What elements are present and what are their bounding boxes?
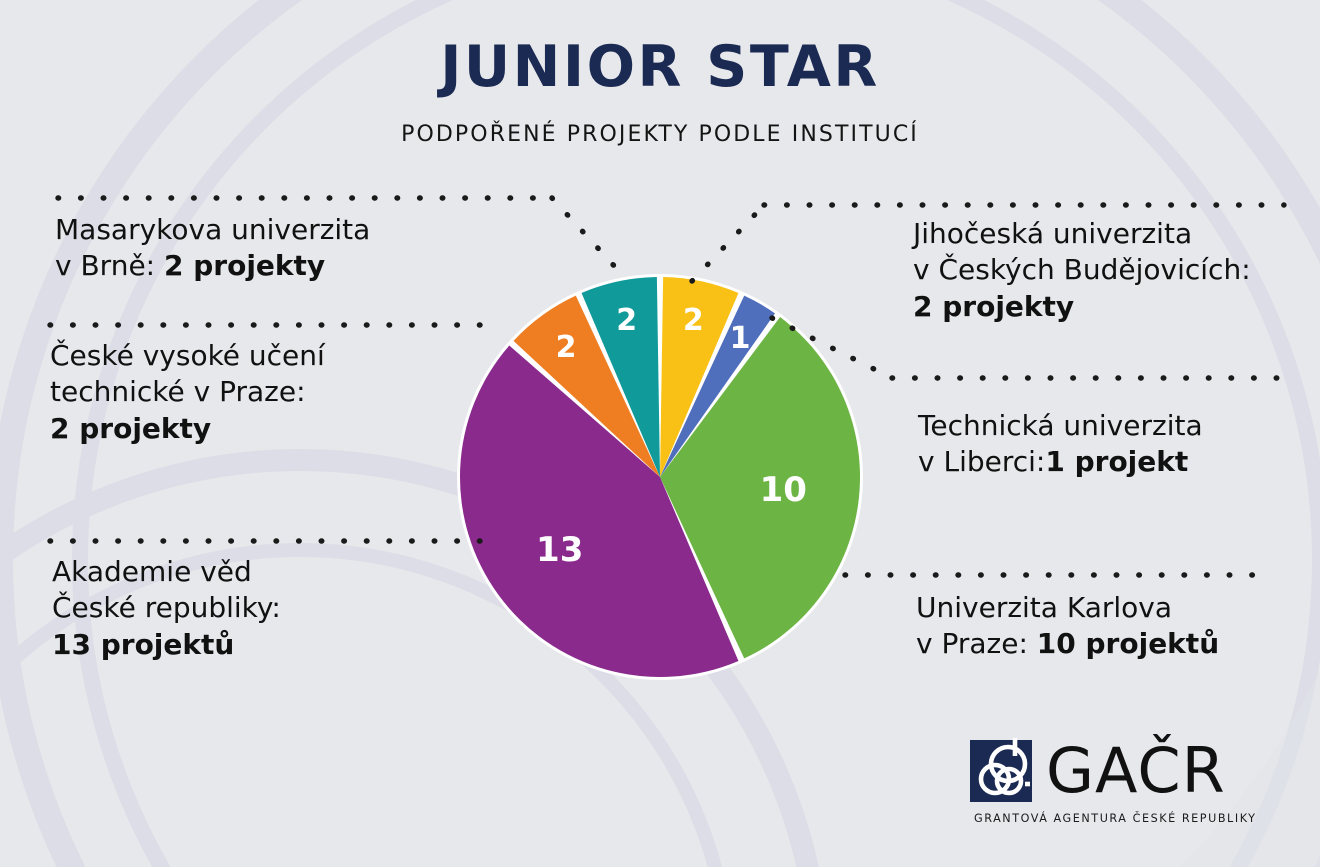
page-title: JUNIOR STAR — [0, 38, 1320, 98]
callout-avcr-line2: České republiky: — [52, 590, 281, 626]
gacr-wordmark: GAČR — [1046, 734, 1226, 807]
callout-tul-line1: Technická univerzita — [918, 408, 1203, 444]
leader-tul-slope — [772, 318, 892, 378]
callout-cvut-line1: České vysoké učení — [50, 338, 325, 374]
callout-cvut-value: 2 projekty — [50, 411, 325, 447]
leader-jcu-slope — [692, 205, 764, 281]
callout-masaryk-line1: Masarykova univerzita — [55, 212, 370, 248]
callout-jcu-line2: v Českých Budějovicích: — [913, 252, 1251, 288]
callout-cvut: České vysoké učení technické v Praze: 2 … — [50, 338, 325, 447]
callout-cvut-value-text: 2 projekty — [50, 412, 211, 445]
callout-masarykova-univerzita: Masarykova univerzita v Brně: 2 projekty — [55, 212, 370, 285]
callout-avcr-line1: Akademie věd — [52, 554, 281, 590]
callout-masaryk-line2-plain: v Brně: — [55, 249, 164, 282]
callout-univerzita-karlova: Univerzita Karlova v Praze: 10 projektů — [916, 590, 1219, 663]
callout-tul-line2: v Liberci:1 projekt — [918, 444, 1203, 480]
callout-uk-line2: v Praze: 10 projektů — [916, 626, 1219, 662]
callout-uk-value: 10 projektů — [1037, 627, 1219, 660]
callout-uk-line2-plain: v Praze: — [916, 627, 1037, 660]
callout-cvut-line2: technické v Praze: — [50, 374, 325, 410]
callout-jcu-line1: Jihočeská univerzita — [913, 216, 1251, 252]
page-subtitle: PODPOŘENÉ PROJEKTY PODLE INSTITUCÍ — [0, 122, 1320, 147]
callout-technicka-univerzita-liberec: Technická univerzita v Liberci:1 projekt — [918, 408, 1203, 481]
callout-avcr-value-text: 13 projektů — [52, 628, 234, 661]
callout-tul-line2-plain: v Liberci: — [918, 445, 1045, 478]
callout-uk-line1: Univerzita Karlova — [916, 590, 1219, 626]
callout-tul-value: 1 projekt — [1045, 445, 1188, 478]
callout-jihoceska-univerzita: Jihočeská univerzita v Českých Budějovic… — [913, 216, 1251, 325]
gacr-logo-mark — [970, 738, 1032, 802]
callout-akademie-ved: Akademie věd České republiky: 13 projekt… — [52, 554, 281, 663]
callout-jcu-value-text: 2 projekty — [913, 290, 1074, 323]
gacr-logo: GAČR GRANTOVÁ AGENTURA ČESKÉ REPUBLIKY — [968, 734, 1258, 839]
callout-avcr-value: 13 projektů — [52, 627, 281, 663]
gacr-tagline: GRANTOVÁ AGENTURA ČESKÉ REPUBLIKY — [974, 812, 1257, 825]
infographic-canvas: 21101322 JUNIOR STAR PODPOŘENÉ PROJEKTY … — [0, 0, 1320, 867]
callout-jcu-value: 2 projekty — [913, 289, 1251, 325]
callout-masaryk-line2: v Brně: 2 projekty — [55, 248, 370, 284]
callout-masaryk-value: 2 projekty — [164, 249, 325, 282]
leader-masaryk-slope — [552, 198, 628, 281]
